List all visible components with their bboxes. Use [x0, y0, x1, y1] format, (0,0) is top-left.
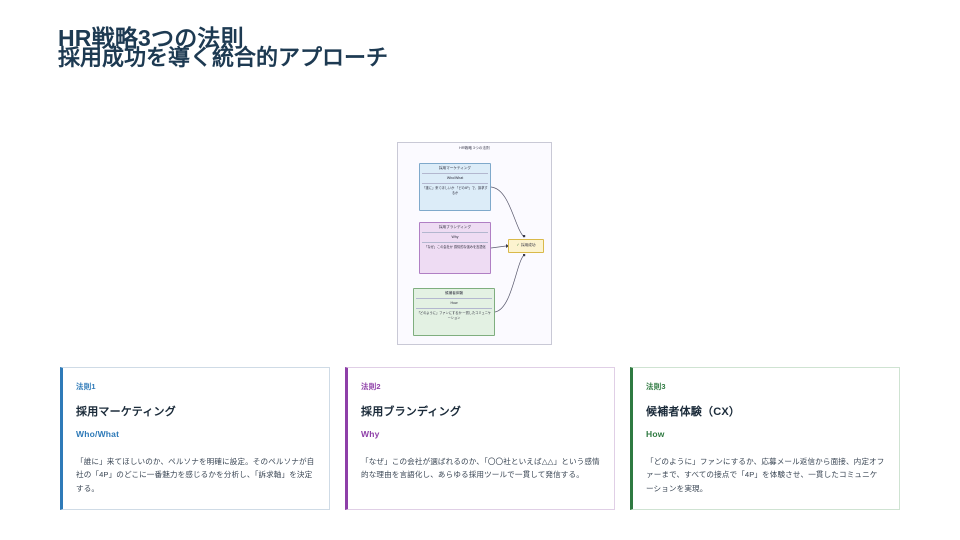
node-title: 採用ブランディング	[422, 225, 488, 233]
connector-marketing-to-goal	[491, 187, 524, 237]
node-key: Who/What	[422, 176, 488, 184]
diagram-canvas: 採用マーケティング Who/What 「誰に」来てほしいか 「どの4P」で、訴求…	[398, 151, 551, 339]
law-card-3: 法則3 候補者体験（CX） How 「どのように」ファンにするか、応募メール返信…	[630, 367, 900, 510]
card-number: 法則3	[646, 381, 885, 392]
card-body: 「どのように」ファンにするか、応募メール返信から面接、内定オファーまで、すべての…	[646, 455, 885, 495]
page-subtitle: 採用成功を導く統合的アプローチ	[58, 46, 618, 70]
law-card-2: 法則2 採用ブランディング Why 「なぜ」この会社が選ばれるのか、「〇〇社とい…	[345, 367, 615, 510]
diagram-node-goal: ✓ 採用成功	[508, 239, 544, 253]
card-title: 採用マーケティング	[76, 403, 315, 419]
diagram-node-branding: 採用ブランディング Why 「なぜ」この会社か 感情的な強みを言語化	[419, 222, 491, 274]
node-title: 採用マーケティング	[422, 166, 488, 174]
card-keyword: How	[646, 429, 885, 439]
diagram-node-marketing: 採用マーケティング Who/What 「誰に」来てほしいか 「どの4P」で、訴求…	[419, 163, 491, 211]
law-card-1: 法則1 採用マーケティング Who/What 「誰に」来てほしいのか、ペルソナを…	[60, 367, 330, 510]
diagram-caption: HR戦略 3つの法則	[398, 143, 551, 151]
card-body: 「なぜ」この会社が選ばれるのか、「〇〇社といえば△△」という感情的な理由を言語化…	[361, 455, 600, 482]
card-keyword: Why	[361, 429, 600, 439]
strategy-diagram: HR戦略 3つの法則 採用マーケティング Who/What 「誰に」来てほしいか…	[397, 142, 552, 345]
node-body: 「どのように」ファンにするか 一貫したコミュニケーション	[416, 311, 492, 320]
card-title: 採用ブランディング	[361, 403, 600, 419]
arrow-marker-top	[523, 235, 525, 237]
diagram-node-candidate-experience: 候補者体験 How 「どのように」ファンにするか 一貫したコミュニケーション	[413, 288, 495, 336]
connector-cx-to-goal	[495, 255, 524, 312]
slide-header: HR戦略3つの法則 採用成功を導く統合的アプローチ	[58, 26, 618, 70]
node-key: Why	[422, 235, 488, 243]
check-icon: ✓	[517, 243, 520, 248]
card-title: 候補者体験（CX）	[646, 403, 885, 419]
law-card-list: 法則1 採用マーケティング Who/What 「誰に」来てほしいのか、ペルソナを…	[60, 367, 900, 510]
node-body: 「なぜ」この会社か 感情的な強みを言語化	[422, 245, 488, 250]
node-body: 「誰に」来てほしいか 「どの4P」で、訴求するか	[422, 186, 488, 195]
node-key: How	[416, 301, 492, 309]
card-keyword: Who/What	[76, 429, 315, 439]
goal-label: 採用成功	[521, 243, 535, 248]
card-number: 法則2	[361, 381, 600, 392]
arrow-marker-bottom	[523, 254, 525, 256]
card-number: 法則1	[76, 381, 315, 392]
connector-branding-to-goal	[491, 246, 506, 248]
node-title: 候補者体験	[416, 291, 492, 299]
card-body: 「誰に」来てほしいのか、ペルソナを明確に設定。そのペルソナが自社の「4P」のどこ…	[76, 455, 315, 495]
